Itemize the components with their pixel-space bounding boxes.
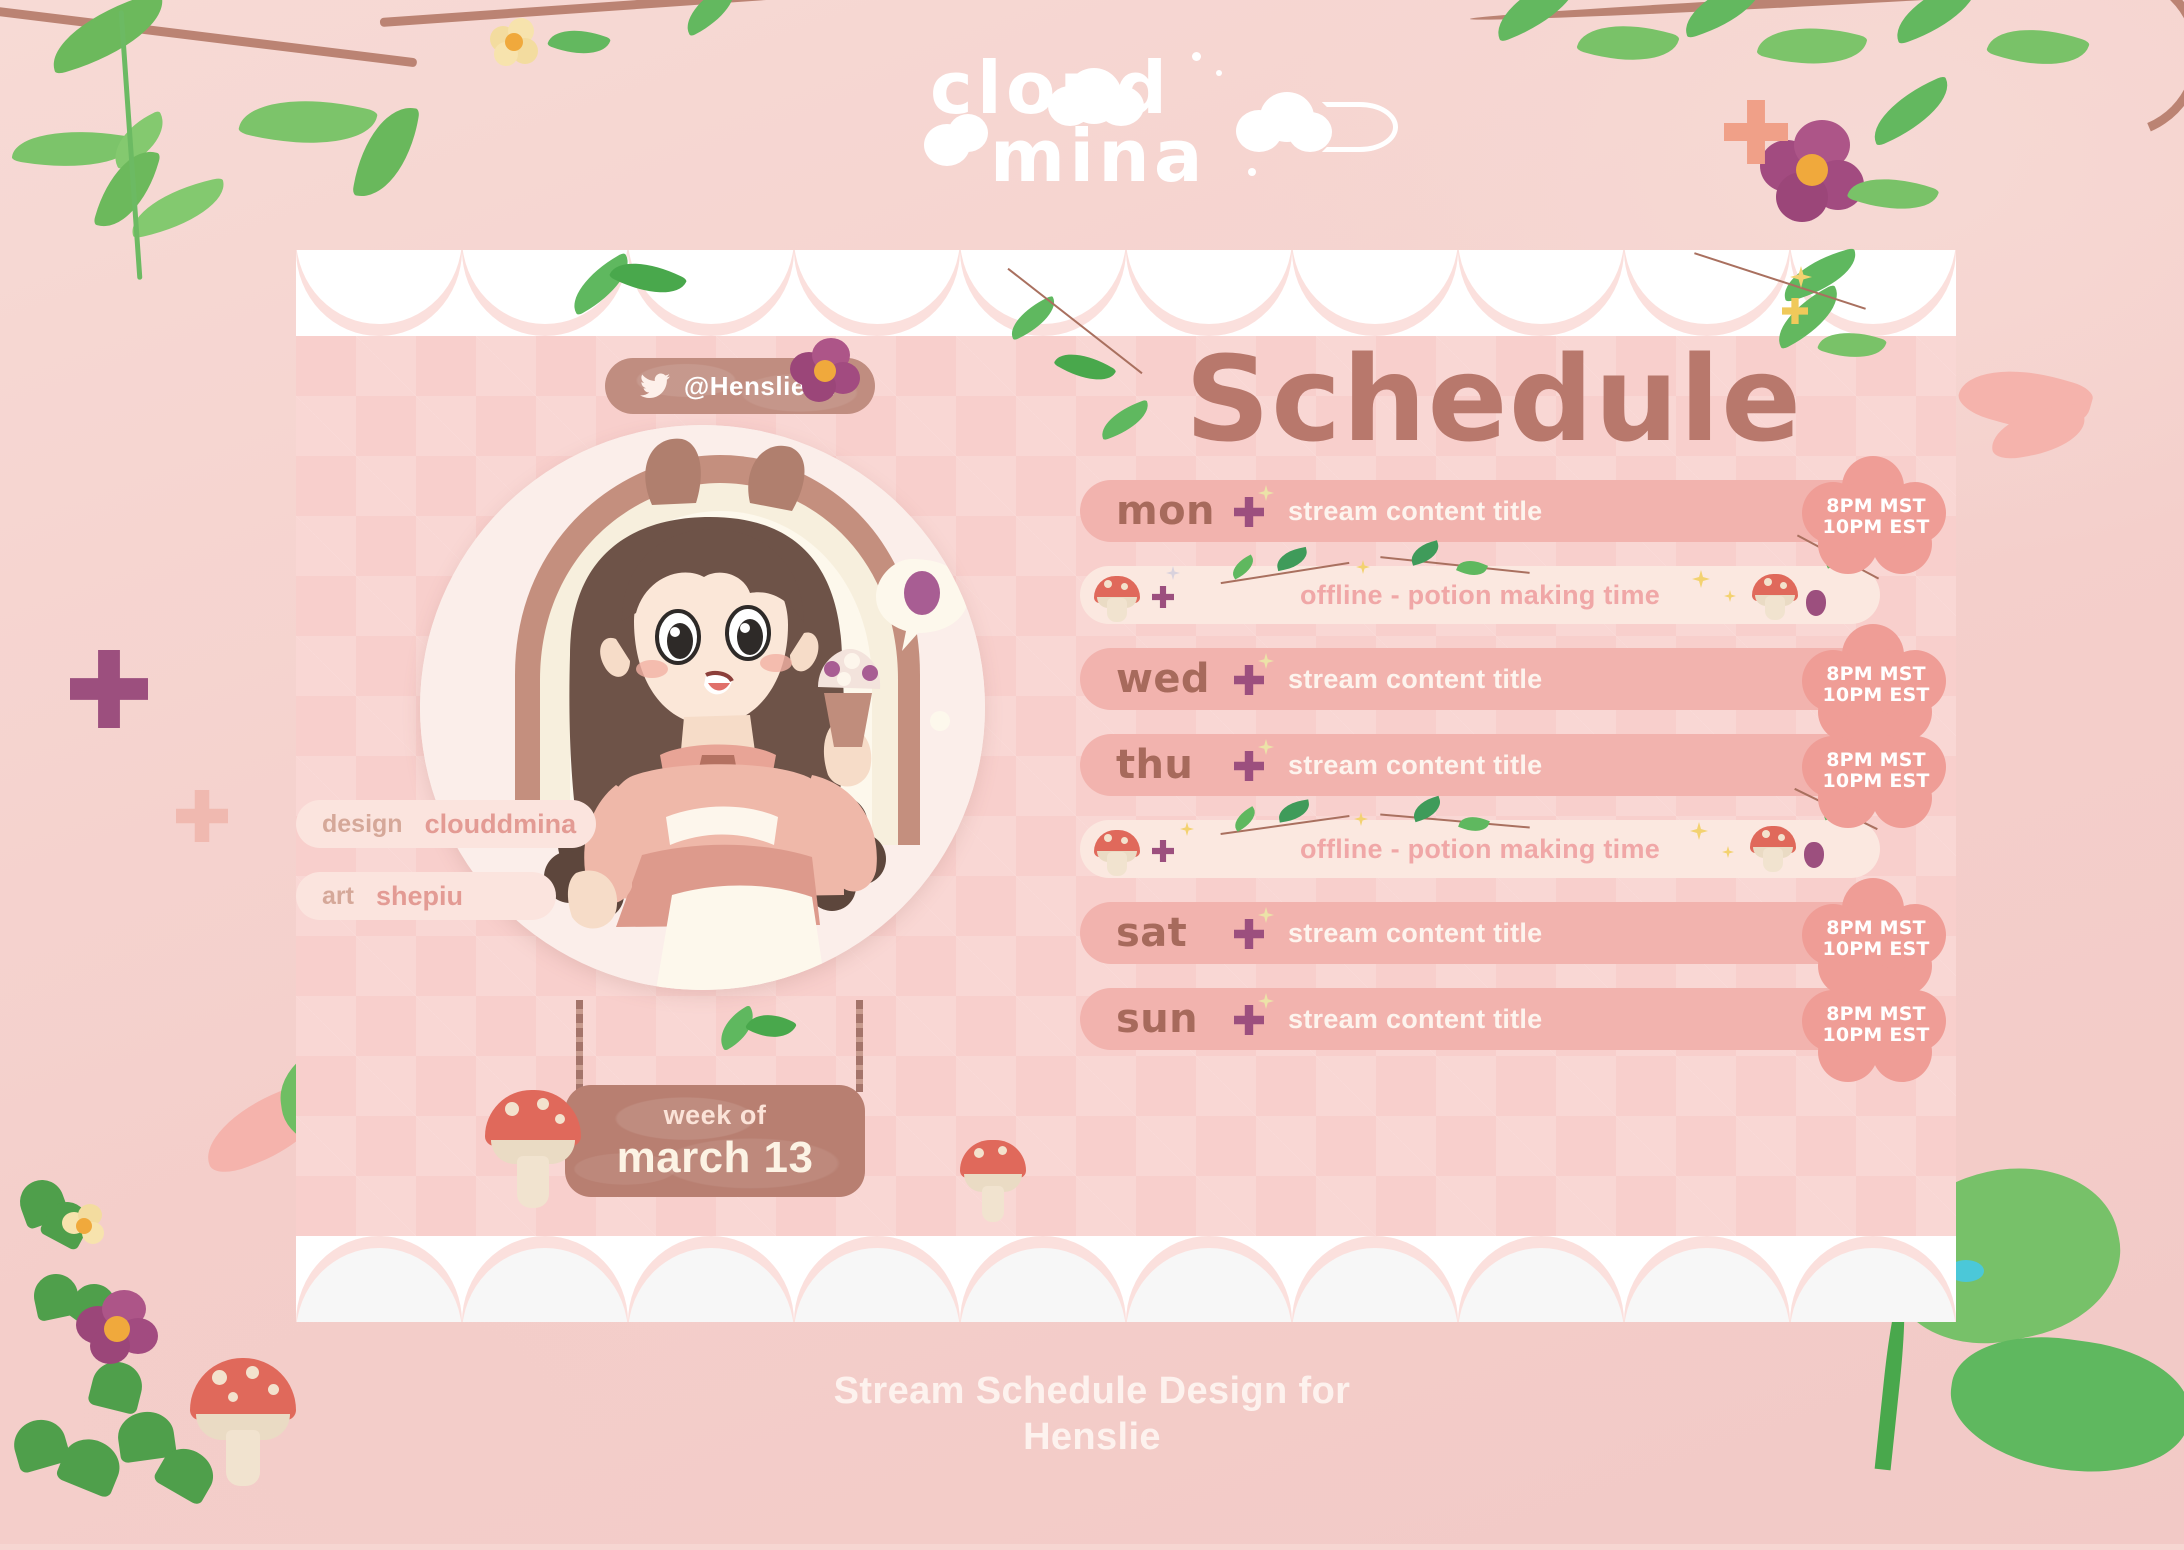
time-primary: 8PM MST (1826, 496, 1926, 517)
sparkle-icon (1248, 168, 1256, 176)
plus-icon (1234, 497, 1264, 527)
sparkle-icon (1216, 70, 1222, 76)
stream-title: stream content title (1288, 664, 1542, 695)
sparkle-icon (1724, 590, 1736, 602)
stream-title: stream content title (1288, 496, 1542, 527)
mushroom-icon (1094, 824, 1140, 876)
sparkle-icon (1692, 570, 1710, 588)
schedule-row-stream[interactable]: sat stream content title 8PM MST 10PM ES… (1080, 902, 1880, 964)
plus-sparkle-decoration (1226, 653, 1278, 705)
sparkle-icon (1180, 822, 1194, 836)
day-label: thu (1116, 742, 1224, 788)
page-title: Schedule (1185, 330, 1802, 468)
cloud-icon (1236, 110, 1282, 152)
twitter-handle-label: @HenslieVT (684, 371, 840, 402)
schedule-row-offline[interactable]: offline - potion making time (1080, 566, 1880, 624)
stream-title: stream content title (1288, 750, 1542, 781)
time-secondary: 10PM EST (1822, 939, 1929, 960)
schedule-row-stream[interactable]: mon stream content title 8PM MST 10PM ES… (1080, 480, 1880, 542)
credit-design: design clouddmina (296, 800, 596, 848)
time-secondary: 10PM EST (1822, 771, 1929, 792)
plus-icon (1152, 586, 1174, 608)
time-primary: 8PM MST (1826, 664, 1926, 685)
credit-label: design (322, 810, 403, 839)
plus-icon (1234, 751, 1264, 781)
schedule-row-stream[interactable]: wed stream content title 8PM MST 10PM ES… (1080, 648, 1880, 710)
day-label: sat (1116, 910, 1224, 956)
brand-logo: cloud mina (930, 28, 1390, 188)
twitter-handle-badge[interactable]: @HenslieVT (605, 358, 875, 414)
stream-title: stream content title (1288, 1004, 1542, 1035)
sparkle-icon (1258, 485, 1274, 501)
credit-art: art shepiu (296, 872, 556, 920)
day-label: mon (1116, 488, 1224, 534)
mushroom-icon (1750, 820, 1796, 872)
plus-sparkle-decoration (1226, 739, 1278, 791)
time-primary: 8PM MST (1826, 918, 1926, 939)
scallop-border-top (296, 250, 1956, 336)
plus-icon (1234, 919, 1264, 949)
time-badge: 8PM MST 10PM EST (1802, 456, 1950, 578)
scallop-border-bottom (296, 1236, 1956, 1322)
sparkle-icon (1258, 653, 1274, 669)
mushroom-icon (1094, 570, 1140, 622)
day-label: sun (1116, 996, 1224, 1042)
wing-icon (1322, 102, 1398, 152)
offline-title: offline - potion making time (1300, 580, 1660, 611)
sparkle-icon (1258, 739, 1274, 755)
footer-line-1: Stream Schedule Design for (0, 1368, 2184, 1414)
sparkle-icon (1166, 566, 1180, 580)
plus-icon (1234, 1005, 1264, 1035)
schedule-row-stream[interactable]: thu stream content title 8PM MST 10PM ES… (1080, 734, 1880, 796)
plus-icon (1234, 665, 1264, 695)
time-secondary: 10PM EST (1822, 1025, 1929, 1046)
sparkle-icon (1722, 846, 1734, 858)
time-badge: 8PM MST 10PM EST (1802, 964, 1950, 1086)
schedule-row-offline[interactable]: offline - potion making time (1080, 820, 1880, 878)
twitter-bird-icon (640, 373, 670, 399)
week-date-label: march 13 (617, 1133, 814, 1183)
plus-sparkle-decoration (1226, 993, 1278, 1045)
plus-sparkle-decoration (1226, 485, 1278, 537)
week-of-label: week of (664, 1100, 767, 1131)
chain-left (576, 1000, 583, 1092)
plus-icon (1152, 840, 1174, 862)
offline-title: offline - potion making time (1300, 834, 1660, 865)
berry-icon (1804, 842, 1824, 868)
time-primary: 8PM MST (1826, 750, 1926, 771)
day-label: wed (1116, 656, 1224, 702)
sparkle-icon (1192, 52, 1201, 61)
logo-text-mina: mina (990, 114, 1207, 198)
berry-icon (1806, 590, 1826, 616)
schedule-list: mon stream content title 8PM MST 10PM ES… (1080, 480, 1880, 1050)
credit-value: shepiu (376, 881, 463, 912)
time-primary: 8PM MST (1826, 1004, 1926, 1025)
sparkle-icon (1258, 907, 1274, 923)
week-of-sign: week of march 13 (565, 1085, 865, 1197)
sparkle-icon (1690, 822, 1708, 840)
credit-value: clouddmina (425, 809, 577, 840)
stream-title: stream content title (1288, 918, 1542, 949)
time-badge: 8PM MST 10PM EST (1802, 710, 1950, 832)
footer-line-2: Henslie (0, 1414, 2184, 1460)
schedule-row-stream[interactable]: sun stream content title 8PM MST 10PM ES… (1080, 988, 1880, 1050)
footer-caption: Stream Schedule Design for Henslie (0, 1368, 2184, 1461)
sparkle-icon (950, 146, 957, 153)
credit-label: art (322, 882, 354, 911)
plus-sparkle-decoration (1226, 907, 1278, 959)
sparkle-icon (1258, 993, 1274, 1009)
chain-right (856, 1000, 863, 1092)
time-secondary: 10PM EST (1822, 517, 1929, 538)
time-secondary: 10PM EST (1822, 685, 1929, 706)
mushroom-icon (1752, 568, 1798, 620)
